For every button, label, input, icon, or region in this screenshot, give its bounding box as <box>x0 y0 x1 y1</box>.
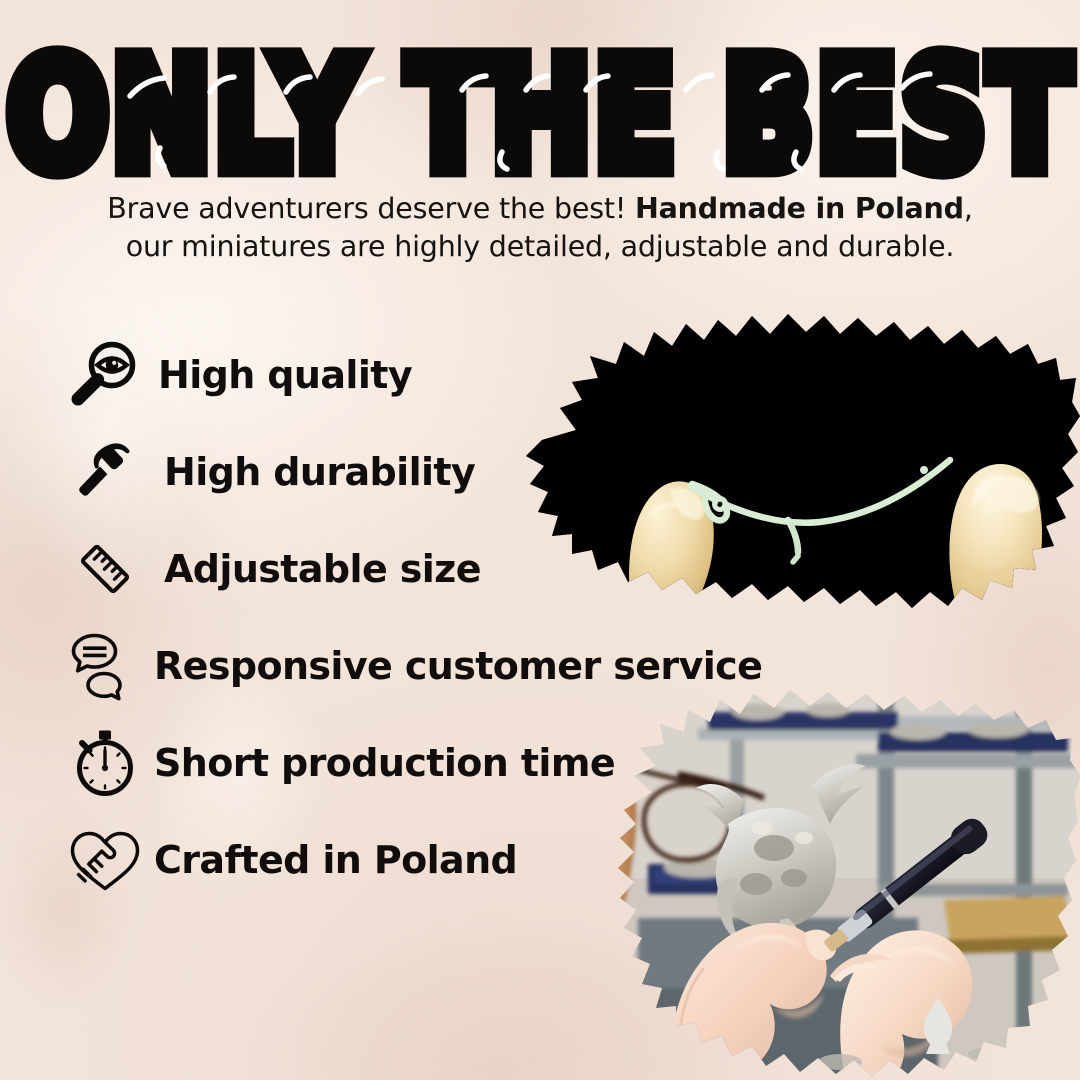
speech-bubbles-icon <box>66 627 144 705</box>
feature-label: Adjustable size <box>164 547 481 591</box>
stopwatch-icon <box>66 724 144 802</box>
subtitle: Brave adventurers deserve the best! Hand… <box>60 190 1020 266</box>
feature-label: High quality <box>158 353 412 397</box>
subtitle-suffix: , <box>964 192 973 225</box>
subtitle-bold-phrase: Handmade in Poland <box>635 192 964 225</box>
hammer-icon <box>66 433 144 511</box>
feature-label: High durability <box>164 450 475 494</box>
subtitle-prefix: Brave adventurers deserve the best! <box>107 192 635 225</box>
page-title: ONLY THE BEST <box>0 40 1080 190</box>
heart-handshake-icon <box>66 821 144 899</box>
page-title-text: ONLY THE BEST <box>7 25 1073 204</box>
poster-root: ONLY THE BEST <box>0 0 1080 1080</box>
cardboard-strip <box>584 740 637 980</box>
miniature-flexibility-photo <box>520 312 1080 622</box>
feature-label: Short production time <box>154 741 615 785</box>
subtitle-line-2: our miniatures are highly detailed, adju… <box>126 230 955 263</box>
feature-label: Responsive customer service <box>154 644 762 688</box>
ruler-icon <box>66 530 144 608</box>
feature-label: Crafted in Poland <box>154 838 517 882</box>
subtitle-line-1: Brave adventurers deserve the best! Hand… <box>107 192 972 225</box>
magnifier-eye-icon <box>66 336 144 414</box>
workshop-painting-photo <box>578 688 1080 1080</box>
